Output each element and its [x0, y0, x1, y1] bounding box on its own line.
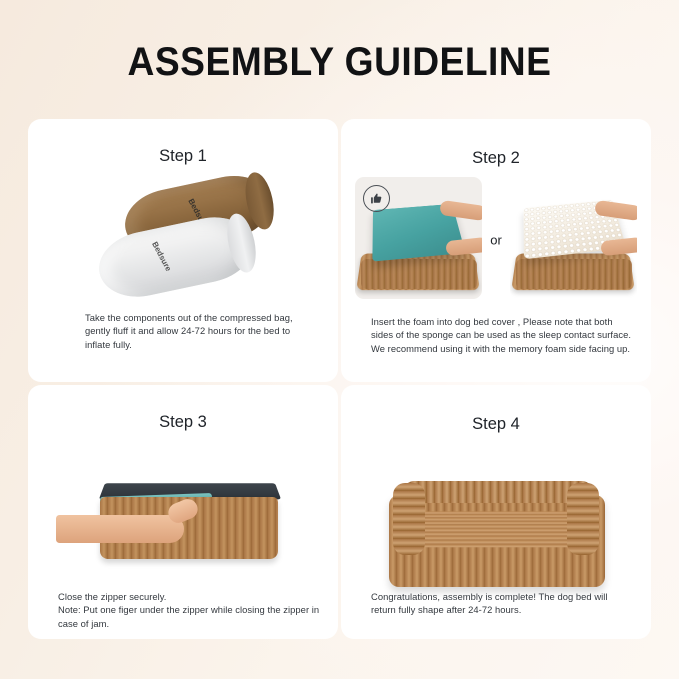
finished-bed-sleep-surface	[410, 511, 585, 547]
dog-bed-cover-left-inner	[361, 259, 477, 289]
step-1-label: Step 1	[28, 147, 338, 166]
finished-bed-bolster-left	[393, 483, 425, 555]
dog-bed-cover-right-inner	[516, 259, 632, 289]
step-card-1: Step 1 Bedsure Bedsure Take the componen…	[28, 119, 338, 382]
step-4-caption: Congratulations, assembly is complete! T…	[371, 590, 629, 617]
step-2-caption: Insert the foam into dog bed cover , Ple…	[371, 315, 633, 355]
step-3-label: Step 3	[28, 413, 338, 432]
thumbs-up-icon	[363, 185, 390, 212]
finished-bed-bolster-right	[567, 483, 599, 555]
step-card-3: Step 3 Close the zipper securely. Note: …	[28, 385, 338, 639]
step-1-illustration: Bedsure Bedsure	[28, 177, 338, 307]
brand-label-bottom: Bedsure	[150, 240, 173, 272]
step-3-caption: Close the zipper securely. Note: Put one…	[58, 590, 320, 630]
hand-right-lower	[445, 237, 482, 256]
step-4-illustration	[341, 455, 651, 595]
step-4-label: Step 4	[341, 415, 651, 434]
hand-arm	[56, 515, 184, 543]
hand-right-lower-2	[600, 237, 637, 256]
step-2-panel-memory-foam	[510, 177, 637, 299]
finished-bed-bolster-back	[403, 481, 593, 503]
page-background: ASSEMBLY GUIDELINE Step 1 Bedsure Bedsur…	[0, 0, 679, 679]
step-2-panel-teal	[355, 177, 482, 299]
step-3-illustration	[28, 457, 338, 587]
page-title: ASSEMBLY GUIDELINE	[24, 40, 655, 85]
step-card-4: Step 4 Congratulations, assembly is comp…	[341, 385, 651, 639]
step-2-illustration: or	[355, 177, 637, 303]
step-2-label: Step 2	[341, 149, 651, 168]
step-card-2: Step 2 or	[341, 119, 651, 382]
step-1-caption: Take the components out of the compresse…	[85, 311, 318, 351]
steps-grid: Step 1 Bedsure Bedsure Take the componen…	[28, 119, 651, 639]
compressed-roll-white: Bedsure	[93, 209, 259, 304]
step-2-or-separator: or	[490, 233, 502, 248]
